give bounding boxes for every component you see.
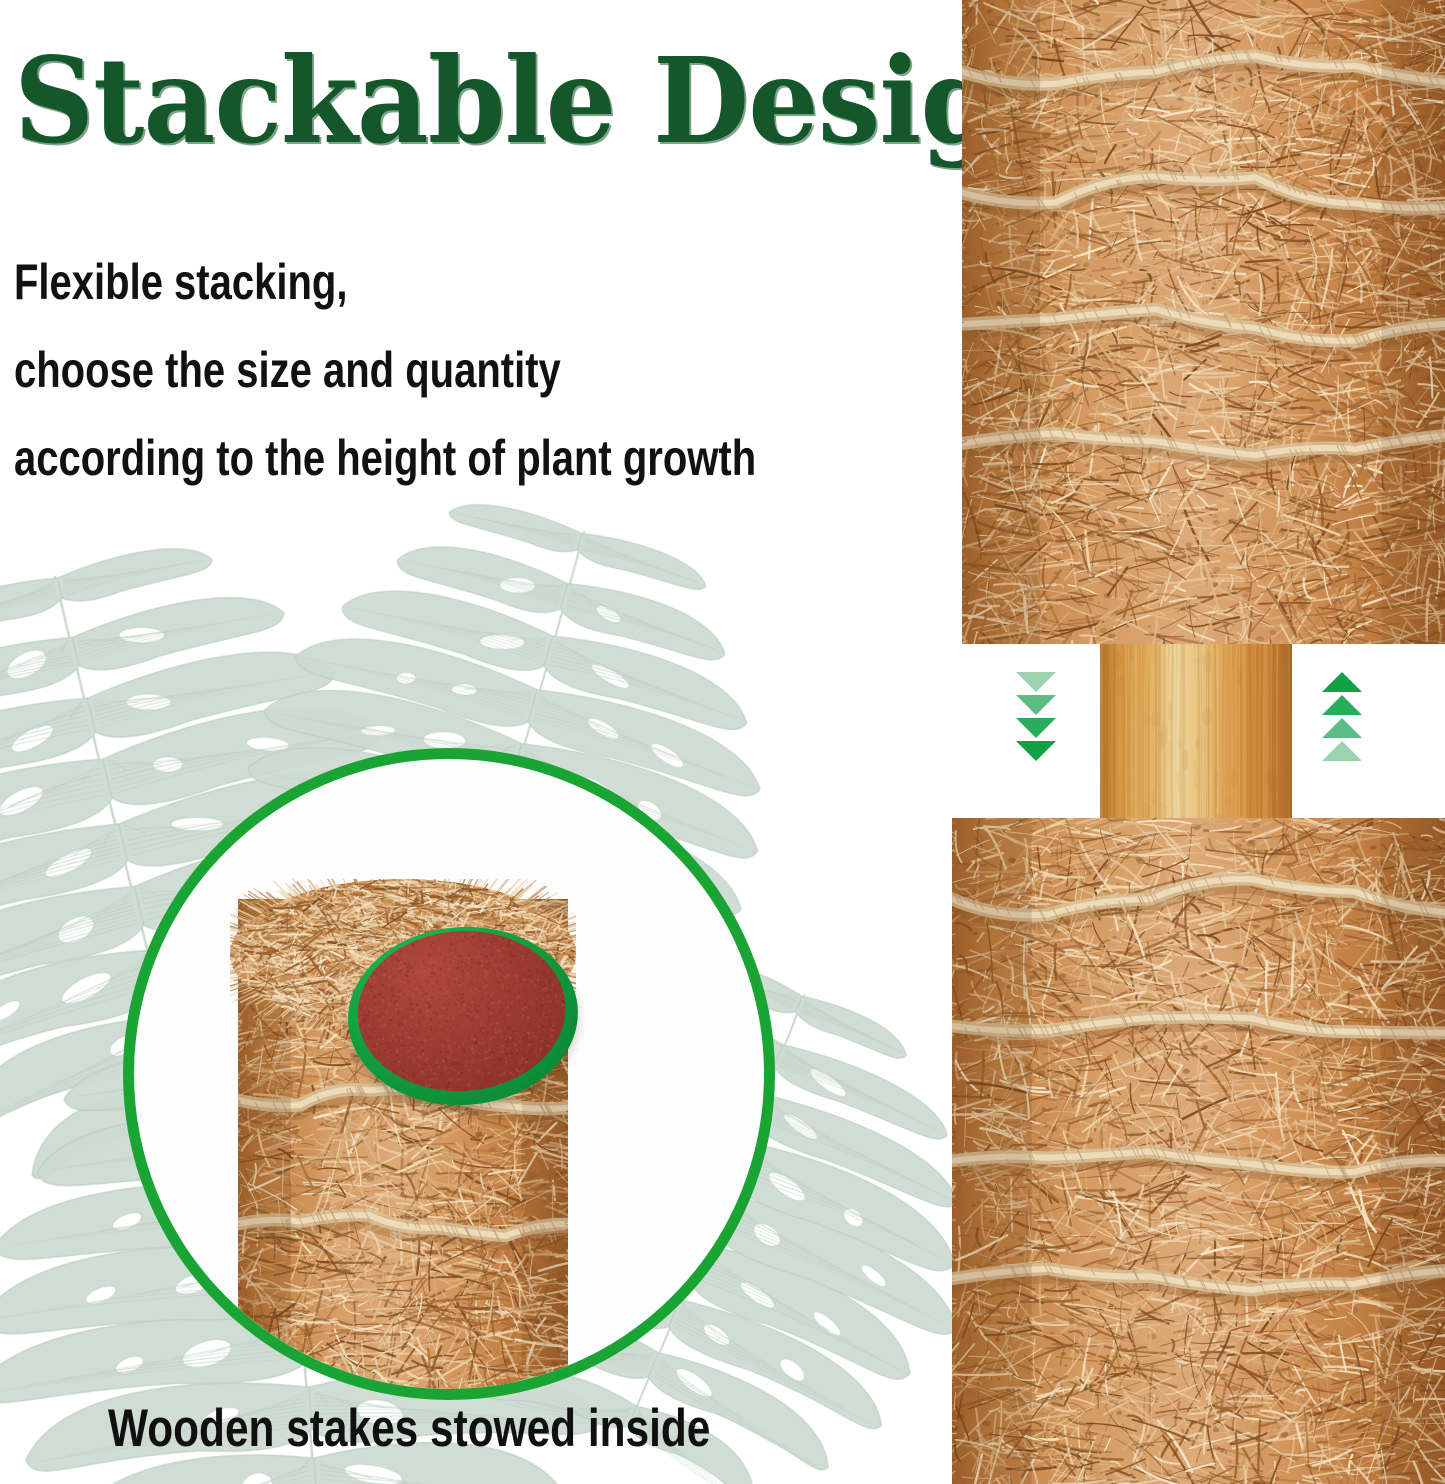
arrow-up-icon xyxy=(1322,672,1362,692)
arrow-down-icon xyxy=(1016,672,1056,692)
inset-caption: Wooden stakes stowed inside xyxy=(108,1398,710,1460)
coir-pole-lower xyxy=(952,818,1445,1484)
detail-circle-clip xyxy=(134,759,764,1389)
coir-pole-upper xyxy=(962,0,1445,644)
stack-up-arrows xyxy=(1322,672,1362,764)
body-copy-line-1: Flexible stacking, xyxy=(14,238,798,326)
arrow-up-icon xyxy=(1322,718,1362,738)
detail-circle-inset xyxy=(123,748,775,1400)
wooden-stake xyxy=(1100,620,1292,832)
coir-fiber-texture-upper xyxy=(962,0,1445,644)
arrow-down-icon xyxy=(1016,741,1056,761)
stack-down-arrows xyxy=(1016,672,1056,764)
page-title: Stackable Design xyxy=(14,42,860,172)
arrow-down-icon xyxy=(1016,718,1056,738)
product-infographic: Stackable Design Flexible stacking, choo… xyxy=(0,0,1445,1484)
body-copy-line-2: choose the size and quantity xyxy=(14,326,798,414)
arrow-up-icon xyxy=(1322,741,1362,761)
arrow-down-icon xyxy=(1016,695,1056,715)
wood-grain-texture xyxy=(1100,620,1292,832)
arrow-up-icon xyxy=(1322,695,1362,715)
body-copy-line-3: according to the height of plant growth xyxy=(14,414,798,502)
body-copy: Flexible stacking, choose the size and q… xyxy=(14,238,798,502)
coir-fiber-texture-lower xyxy=(952,818,1445,1484)
